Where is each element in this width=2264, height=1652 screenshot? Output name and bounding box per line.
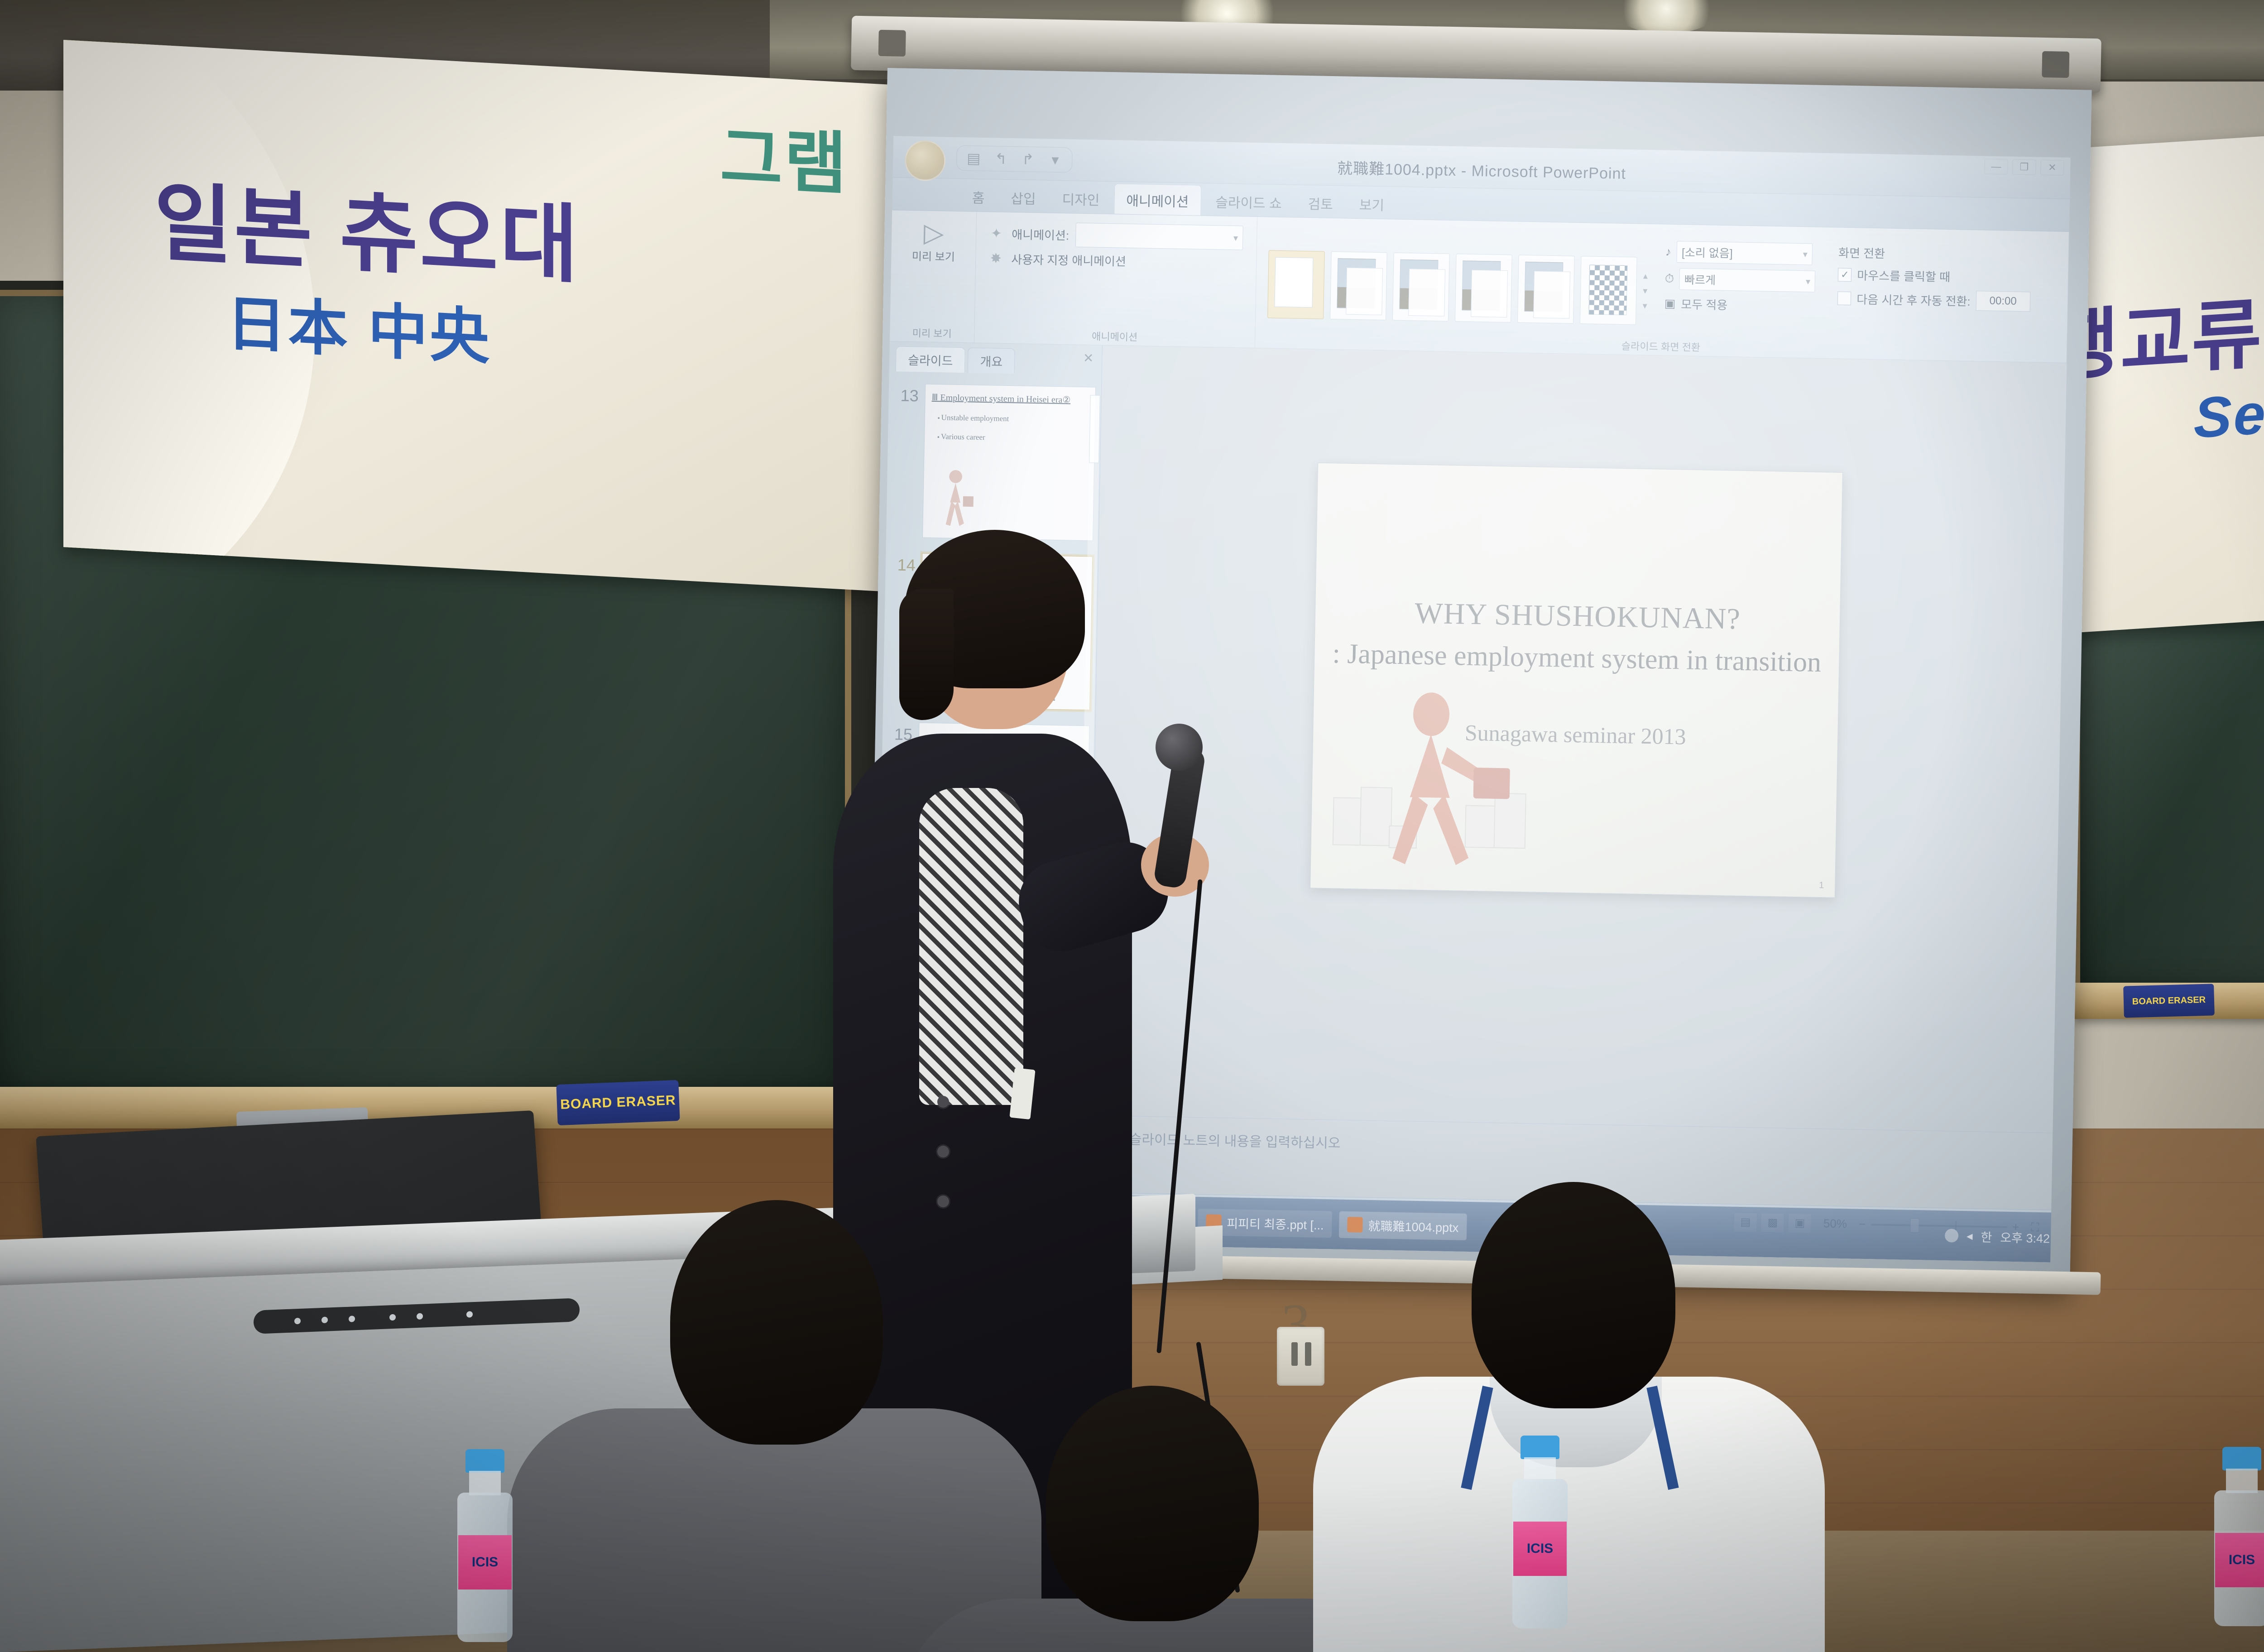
tab-slides[interactable]: 슬라이드 — [896, 346, 965, 373]
advance-slide-block: 화면 전환 ✓ 마우스를 클릭할 때 다음 시간 후 자동 전환: 00:00 — [1828, 232, 2040, 348]
preview-play-icon: ▷ — [900, 220, 968, 247]
gallery-more-icon[interactable]: ▾ — [1642, 300, 1647, 312]
scrollbar-thumb[interactable] — [1089, 395, 1100, 463]
bottle-label: ICIS — [1513, 1522, 1567, 1576]
audience-head — [1472, 1182, 1675, 1408]
transition-sound-speed-block: ♪ [소리 없음] ▾ ⏱ 빠르게 ▾ — [1655, 229, 1825, 345]
presenter-hair-side — [899, 589, 954, 720]
volume-icon[interactable]: ◂ — [1967, 1229, 1973, 1243]
chalkboard-glare — [2080, 595, 2264, 990]
chalkboard-right — [2074, 589, 2264, 996]
ribbon: ▷ 미리 보기 미리 보기 ✦ 애니메이션: ▾ — [890, 210, 2069, 363]
apply-to-all-label: 모두 적용 — [1681, 295, 1728, 313]
banner-left-korean-title: 일본 츄오대 — [154, 154, 580, 300]
bottle-cap — [2222, 1447, 2261, 1470]
current-slide[interactable]: WHY SHUSHOKUNAN? : Japanese employment s… — [1310, 463, 1843, 898]
slide-thumb-title: Ⅲ Employment system in Heisei era② — [931, 392, 1089, 406]
chevron-up-icon[interactable]: ▴ — [1643, 270, 1648, 282]
slide-page-number: 1 — [1819, 880, 1824, 891]
advance-heading-label: 화면 전환 — [1838, 244, 1885, 262]
ime-icon[interactable]: 한 — [1981, 1227, 1992, 1245]
slide-editing-stage: WHY SHUSHOKUNAN? : Japanese employment s… — [1089, 346, 2067, 1133]
tab-slideshow[interactable]: 슬라이드 쇼 — [1204, 186, 1294, 217]
advance-on-click-label: 마우스를 클릭할 때 — [1857, 266, 1950, 285]
transition-speed-dropdown[interactable]: 빠르게 ▾ — [1679, 268, 1816, 292]
slide-title: WHY SHUSHOKUNAN? — [1315, 595, 1840, 639]
custom-animation-label: 사용자 지정 애니메이션 — [1011, 250, 1126, 269]
board-eraser-box-right: BOARD ERASER — [2123, 984, 2215, 1018]
ribbon-group-label-animation: 애니메이션 — [974, 327, 1255, 346]
slide-number: 13 — [890, 383, 919, 538]
close-icon[interactable]: ✕ — [1083, 351, 1094, 365]
system-tray: ◂ 한 오후 3:42 — [1945, 1227, 2050, 1246]
walking-businessman-icon — [936, 467, 977, 536]
outlet-slot — [1291, 1342, 1298, 1366]
banner-left-top-text: 그램 — [720, 103, 849, 208]
tab-insert[interactable]: 삽입 — [999, 182, 1048, 213]
transition-thumb-5[interactable] — [1580, 256, 1637, 325]
bottle-cap — [465, 1449, 504, 1473]
screen-mount-right — [2042, 51, 2069, 78]
bottle-cap — [1521, 1436, 1559, 1459]
slide-panel-tabs: 슬라이드 개요 ✕ — [889, 341, 1102, 375]
transition-preview-2 — [1533, 271, 1570, 318]
audience-head — [1046, 1386, 1259, 1621]
podium-button[interactable] — [349, 1316, 355, 1322]
slide-thumbnail[interactable]: Ⅲ Employment system in Heisei era② Unsta… — [922, 384, 1096, 541]
tab-view[interactable]: 보기 — [1347, 188, 1396, 219]
ribbon-group-preview: ▷ 미리 보기 미리 보기 — [890, 210, 977, 342]
apply-to-all-row[interactable]: ▣ 모두 적용 — [1664, 295, 1815, 315]
tab-outline[interactable]: 개요 — [968, 347, 1015, 374]
outlet-slot — [1305, 1342, 1311, 1366]
taskbar-clock[interactable]: 오후 3:42 — [2000, 1228, 2050, 1246]
podium-button[interactable] — [389, 1314, 396, 1321]
chevron-down-icon: ▾ — [1806, 276, 1811, 287]
chevron-down-icon: ▾ — [1803, 249, 1808, 260]
transition-thumb-4[interactable] — [1517, 255, 1575, 323]
transition-thumb-none[interactable] — [1267, 250, 1325, 319]
advance-auto-row[interactable]: 다음 시간 후 자동 전환: 00:00 — [1837, 288, 2030, 312]
gallery-scroll-arrows[interactable]: ▴ ▾ ▾ — [1642, 270, 1648, 312]
animate-label: 애니메이션: — [1012, 226, 1069, 243]
transition-speed-row: ⏱ 빠르게 ▾ — [1664, 268, 1815, 293]
podium-button[interactable] — [466, 1311, 473, 1318]
podium-button[interactable] — [417, 1313, 423, 1320]
transition-thumb-1[interactable] — [1330, 251, 1387, 320]
animate-icon: ✦ — [987, 226, 1006, 242]
transition-thumb-3[interactable] — [1455, 254, 1512, 322]
slide-thumb-bullet: Various career — [931, 432, 1088, 444]
transition-sound-row: ♪ [소리 없음] ▾ — [1665, 241, 1816, 265]
tab-review[interactable]: 검토 — [1296, 187, 1345, 218]
transition-thumb-2[interactable] — [1392, 252, 1450, 321]
banner-left-japanese-title: 日本 中央 — [226, 275, 491, 376]
apply-all-icon: ▣ — [1664, 297, 1676, 311]
slide-subtitle: : Japanese employment system in transiti… — [1314, 638, 1839, 679]
lecture-hall-scene: 그램 일본 츄오대 日本 中央 그램 행교류 세미나 Seminar ▤ ↰ ↱… — [0, 0, 2264, 1652]
minimize-button[interactable]: — — [1984, 158, 2008, 174]
custom-animation-row[interactable]: ✸ 사용자 지정 애니메이션 — [987, 250, 1248, 272]
presenter-blouse — [919, 788, 1023, 1105]
bottle-neck — [1524, 1457, 1556, 1482]
board-eraser-box-left: BOARD ERASER — [556, 1080, 680, 1125]
transition-gallery: ▴ ▾ ▾ — [1263, 221, 1652, 341]
ribbon-group-transition: ▴ ▾ ▾ ♪ [소리 없음] ▾ — [1255, 217, 2069, 363]
chevron-down-icon[interactable]: ▾ — [1643, 285, 1648, 297]
advance-on-click-checkbox[interactable]: ✓ — [1838, 268, 1852, 282]
window-controls: — ❐ ✕ — [1984, 158, 2064, 175]
advance-auto-checkbox[interactable] — [1837, 292, 1851, 306]
bottle-neck — [469, 1471, 501, 1495]
custom-animation-icon: ✸ — [987, 250, 1005, 267]
ribbon-group-animation: ✦ 애니메이션: ▾ ✸ 사용자 지정 애니메이션 애니메이션 — [974, 212, 1257, 348]
transition-sound-dropdown[interactable]: [소리 없음] ▾ — [1676, 241, 1813, 265]
tab-animations[interactable]: 애니메이션 — [1114, 183, 1201, 216]
audience-head — [670, 1200, 883, 1445]
tab-home[interactable]: 홈 — [960, 181, 997, 211]
sound-icon: ♪ — [1665, 245, 1672, 259]
taskbar-item-label: 피피티 최종.ppt [... — [1227, 1214, 1324, 1233]
wall-power-outlet — [1277, 1327, 1324, 1386]
list-item[interactable]: 13 Ⅲ Employment system in Heisei era② Un… — [890, 383, 1096, 541]
preview-button[interactable]: ▷ 미리 보기 — [899, 215, 968, 264]
transition-preview-2 — [1471, 269, 1508, 317]
transition-preview — [1274, 257, 1313, 307]
bottle-label: ICIS — [458, 1535, 512, 1590]
restore-button[interactable]: ❐ — [2012, 159, 2036, 175]
transition-preview-2 — [1408, 269, 1445, 316]
advance-heading-row: 화면 전환 — [1838, 244, 2031, 264]
jacket-button — [937, 1146, 949, 1157]
banner-left: 그램 일본 츄오대 日本 中央 — [63, 40, 897, 592]
advance-auto-time-input[interactable]: 00:00 — [1976, 291, 2030, 312]
ribbon-group-label-preview: 미리 보기 — [890, 325, 974, 341]
slide-thumb-bullet: Unstable employment — [931, 413, 1089, 425]
transition-speed-value: 빠르게 — [1684, 271, 1716, 288]
tab-design[interactable]: 디자인 — [1050, 183, 1112, 214]
transition-preview-2 — [1346, 267, 1383, 315]
preview-button-label: 미리 보기 — [899, 250, 967, 264]
close-button[interactable]: ✕ — [2040, 160, 2064, 176]
animate-row: ✦ 애니메이션: ▾ — [987, 221, 1249, 250]
walking-businessman-illustration — [1329, 689, 1540, 883]
podium-button[interactable] — [294, 1318, 301, 1325]
jacket-button — [937, 1096, 949, 1108]
speed-icon: ⏱ — [1665, 272, 1674, 286]
podium-button[interactable] — [321, 1317, 328, 1324]
bottle-label: ICIS — [2215, 1533, 2264, 1587]
advance-on-click-row[interactable]: ✓ 마우스를 클릭할 때 — [1838, 266, 2031, 287]
advance-auto-label: 다음 시간 후 자동 전환: — [1856, 290, 1971, 309]
animate-dropdown[interactable]: ▾ — [1075, 223, 1243, 250]
transition-sound-value: [소리 없음] — [1682, 244, 1733, 261]
network-icon[interactable] — [1945, 1229, 1959, 1243]
screen-mount-left — [878, 30, 906, 57]
bottle-neck — [2226, 1469, 2258, 1493]
transition-preview-checker — [1588, 264, 1627, 315]
chevron-down-icon: ▾ — [1233, 232, 1238, 244]
microphone-head — [1156, 724, 1203, 771]
